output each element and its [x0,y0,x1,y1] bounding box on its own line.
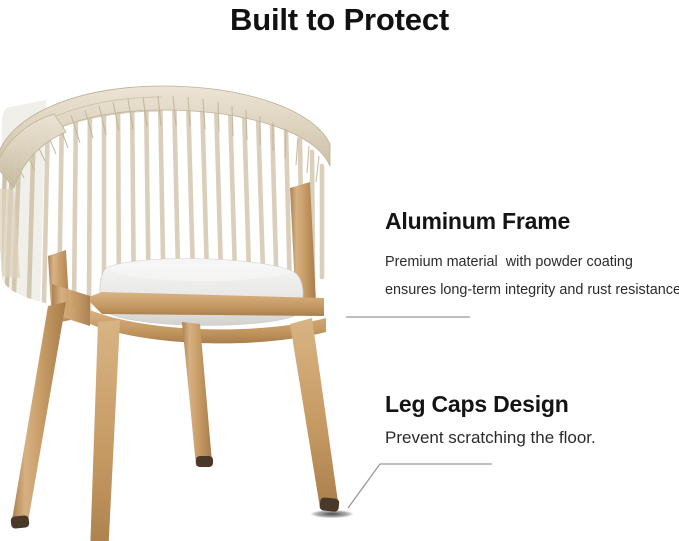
callout-aluminum-frame-body: Premium material with powder coating ens… [385,248,675,304]
leg-cap-back-left [10,515,29,529]
page-title: Built to Protect [0,2,679,38]
leg-cap-back-right [196,456,213,467]
leader-line-aluminum-frame [344,308,474,328]
leg-cap-front-right [319,497,339,512]
product-photo-chair [0,70,374,541]
callout-leg-caps-design-line-1: Prevent scratching the floor. [385,425,675,451]
callout-aluminum-frame-line-1: Premium material with powder coating [385,248,675,276]
callout-leg-caps-design-title: Leg Caps Design [385,390,675,419]
leader-line-leg-caps [340,452,496,512]
callout-aluminum-frame-line-2: ensures long-term integrity and rust res… [385,276,675,304]
chair-leg-back-left [12,302,66,522]
callout-leg-caps-design-body: Prevent scratching the floor. [385,425,675,451]
callout-aluminum-frame-title: Aluminum Frame [385,206,675,236]
callout-leg-caps-design: Leg Caps Design Prevent scratching the f… [385,390,675,451]
marketing-image-canvas: Built to Protect [0,0,679,541]
chair-leg-front-right [290,318,338,508]
callout-aluminum-frame: Aluminum Frame Premium material with pow… [385,206,675,304]
chair-leg-back-right [182,322,212,466]
chair-leg-front-left [90,320,120,541]
